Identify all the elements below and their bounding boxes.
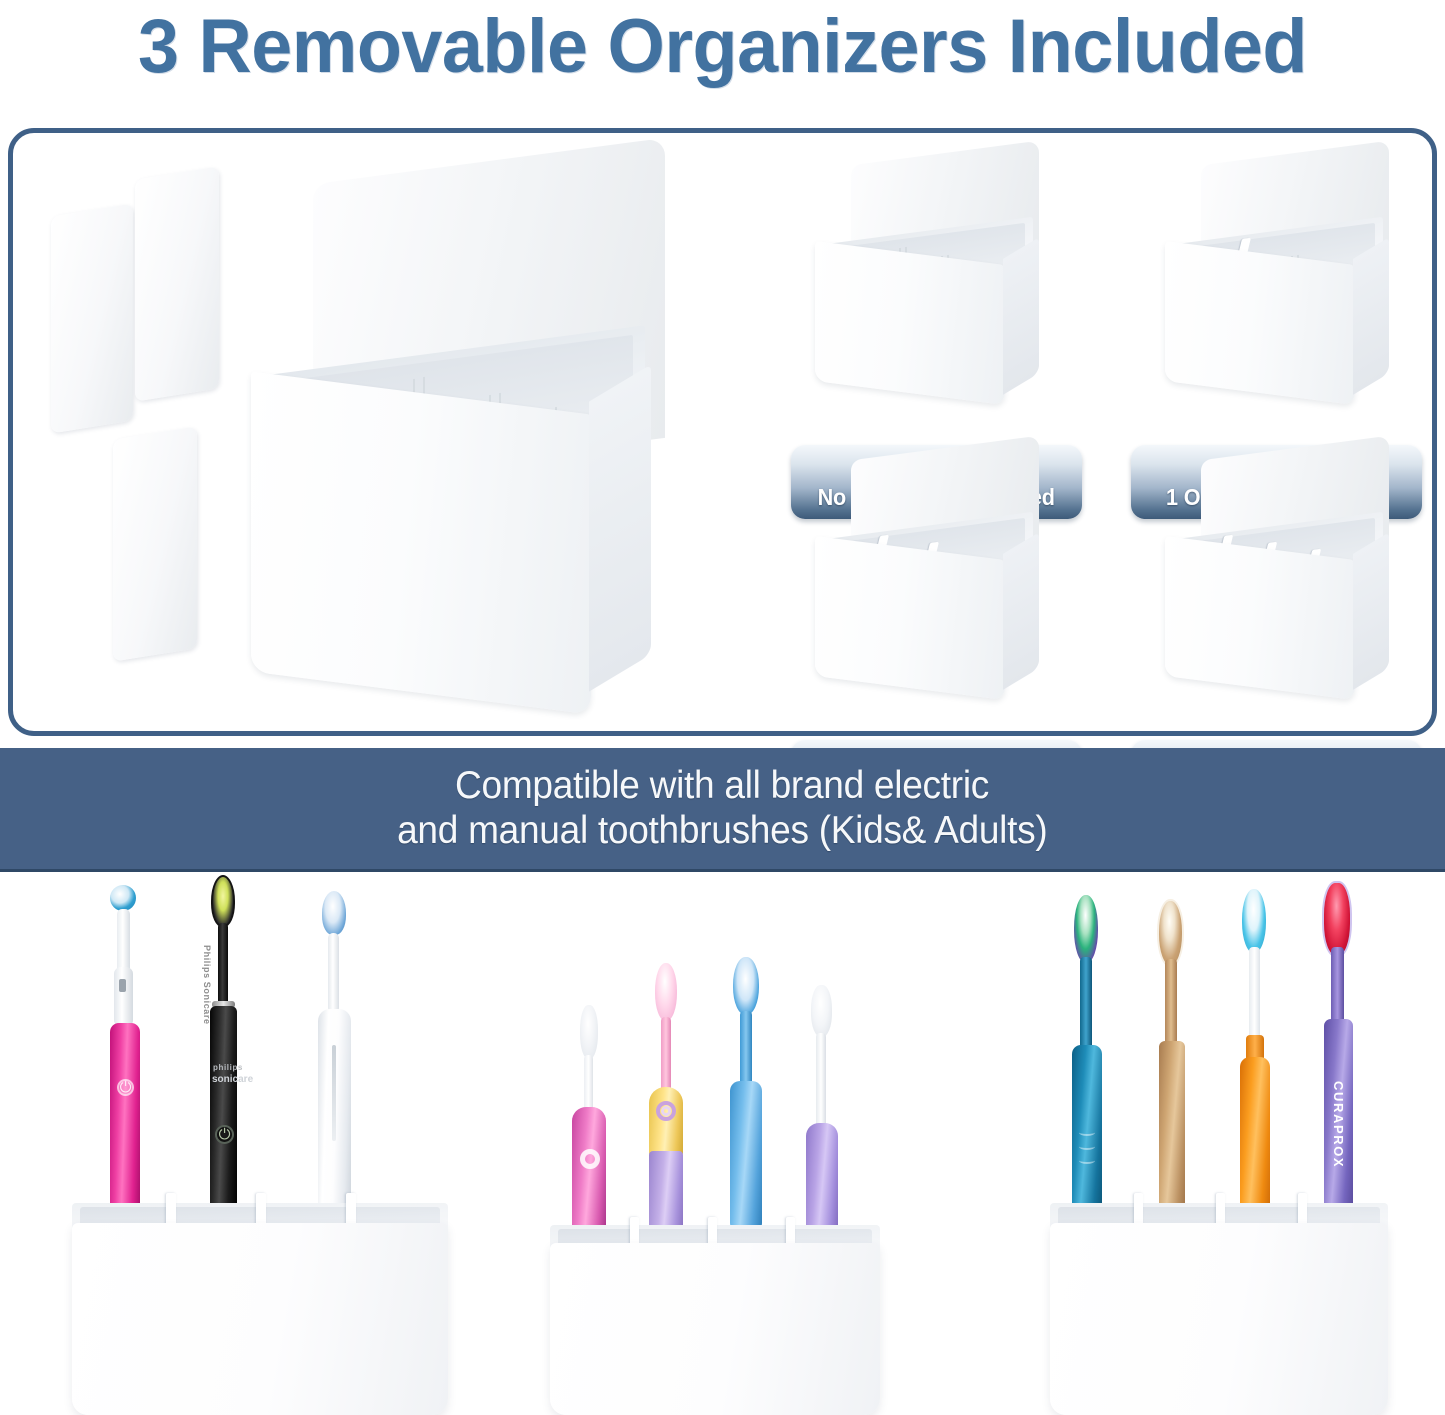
- banner-line-2: and manual toothbrushes (Kids& Adults): [397, 809, 1047, 853]
- curaprox-brand: CURAPROX: [1331, 1081, 1346, 1168]
- product-infographic: 3 Removable Organizers Included: [0, 0, 1445, 1415]
- variant-holder-three: [1163, 448, 1403, 678]
- sonicare-brand: sonicare: [212, 1074, 253, 1085]
- organizers-card: No Organizers Installed 1 Organizers ins…: [8, 128, 1437, 736]
- hero-holder: [245, 161, 665, 701]
- brush-kids-yellow: [638, 961, 696, 1261]
- showcase-section: ⏻ Philips Sonicare philips sonicare ⏻: [0, 875, 1445, 1415]
- variant-holder-two: [813, 448, 1053, 678]
- holder-body: [550, 1243, 880, 1415]
- holder-body: [1050, 1223, 1388, 1415]
- showcase-kids: [540, 875, 900, 1415]
- showcase-adult: CURAPROX: [1030, 875, 1410, 1415]
- power-button-icon: ⏻: [215, 1125, 234, 1144]
- brush-kids-blue: [718, 955, 776, 1261]
- variant-holder-one: [1163, 153, 1403, 383]
- banner-line-1: Compatible with all brand electric: [456, 764, 990, 808]
- power-button-icon: ⏻: [117, 1079, 134, 1096]
- holder-body: [72, 1223, 448, 1415]
- organizer-panel-3: [113, 426, 197, 661]
- organizer-panel-1: [51, 204, 133, 434]
- brush-kids-purple: [794, 983, 852, 1263]
- compatibility-banner: Compatible with all brand electric and m…: [0, 748, 1445, 872]
- showcase-electric: ⏻ Philips Sonicare philips sonicare ⏻: [60, 875, 460, 1415]
- page-title: 3 Removable Organizers Included: [22, 2, 1424, 90]
- philips-brand: philips: [213, 1063, 243, 1072]
- brush-kids-pink: [562, 1003, 620, 1263]
- variant-holder-none: [813, 153, 1053, 383]
- organizer-panel-2: [135, 166, 219, 401]
